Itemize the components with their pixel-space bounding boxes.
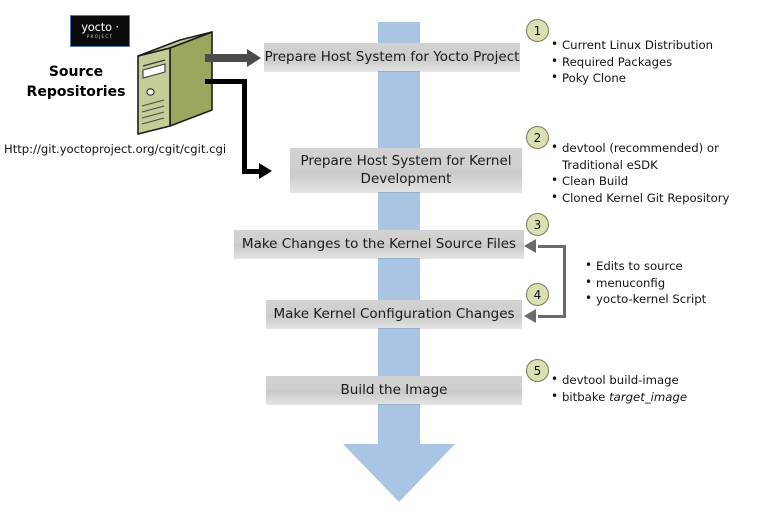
note-item: menuconfig xyxy=(596,275,769,292)
flow-arrow-head-icon xyxy=(343,444,455,502)
source-label-line2: Repositories xyxy=(12,82,140,102)
diagram-canvas: yocto · PROJECT Source Repositories Http… xyxy=(0,0,769,517)
step-number-4: 4 xyxy=(526,283,549,306)
step-box-3[interactable]: Make Changes to the Kernel Source Files xyxy=(234,230,524,258)
arrowhead-server-to-step2-icon xyxy=(259,163,272,179)
step-number-5: 5 xyxy=(526,359,549,382)
note-item: Cloned Kernel Git Repository xyxy=(562,190,766,207)
note-command: bitbake xyxy=(562,390,609,404)
source-repository-url: Http://git.yoctoproject.org/cgit/cgit.cg… xyxy=(4,142,226,156)
note-item: Current Linux Distribution xyxy=(562,37,763,54)
note-item: devtool (recommended) or Traditional eSD… xyxy=(562,140,766,173)
note-item: Required Packages xyxy=(562,54,763,71)
arrowhead-to-step4-icon xyxy=(524,309,536,323)
connector-notes-to-step3 xyxy=(538,245,564,248)
step-box-2[interactable]: Prepare Host System for Kernel Developme… xyxy=(290,148,522,192)
notes-step-1: Current Linux Distribution Required Pack… xyxy=(548,37,763,87)
note-argument: target_image xyxy=(609,390,687,404)
note-item: Edits to source xyxy=(596,258,769,275)
step-number-3: 3 xyxy=(526,213,549,236)
arrowhead-server-to-step1-icon xyxy=(247,49,261,67)
step-box-5[interactable]: Build the Image xyxy=(266,376,522,404)
connector-server-to-step2-horizontal xyxy=(205,79,247,84)
step-box-4[interactable]: Make Kernel Configuration Changes xyxy=(266,300,522,328)
arrowhead-to-step3-icon xyxy=(524,239,536,253)
notes-step-5: devtool build-image bitbake target_image xyxy=(548,372,748,405)
yocto-logo-word: yocto · xyxy=(81,22,119,33)
yocto-project-logo: yocto · PROJECT xyxy=(70,15,130,47)
notes-steps-3-4: Edits to source menuconfig yocto-kernel … xyxy=(582,258,769,308)
connector-server-to-step1 xyxy=(205,54,249,62)
note-item: Poky Clone xyxy=(562,70,763,87)
notes-step-2: devtool (recommended) or Traditional eSD… xyxy=(548,140,766,206)
note-item: devtool build-image xyxy=(562,372,748,389)
source-label-line1: Source xyxy=(12,62,140,82)
note-item: yocto-kernel Script xyxy=(596,291,769,308)
note-item: Clean Build xyxy=(562,173,766,190)
connector-notes-bracket-vertical xyxy=(563,245,566,318)
connector-notes-to-step4 xyxy=(538,315,564,318)
note-item: bitbake target_image xyxy=(562,389,748,406)
source-repositories-label: Source Repositories xyxy=(12,62,140,102)
step-number-1: 1 xyxy=(526,19,549,42)
step-number-2: 2 xyxy=(526,126,549,149)
yocto-logo-subtitle: PROJECT xyxy=(87,34,114,40)
step-box-1[interactable]: Prepare Host System for Yocto Project xyxy=(264,43,520,71)
connector-server-to-step2-vertical xyxy=(242,79,247,174)
